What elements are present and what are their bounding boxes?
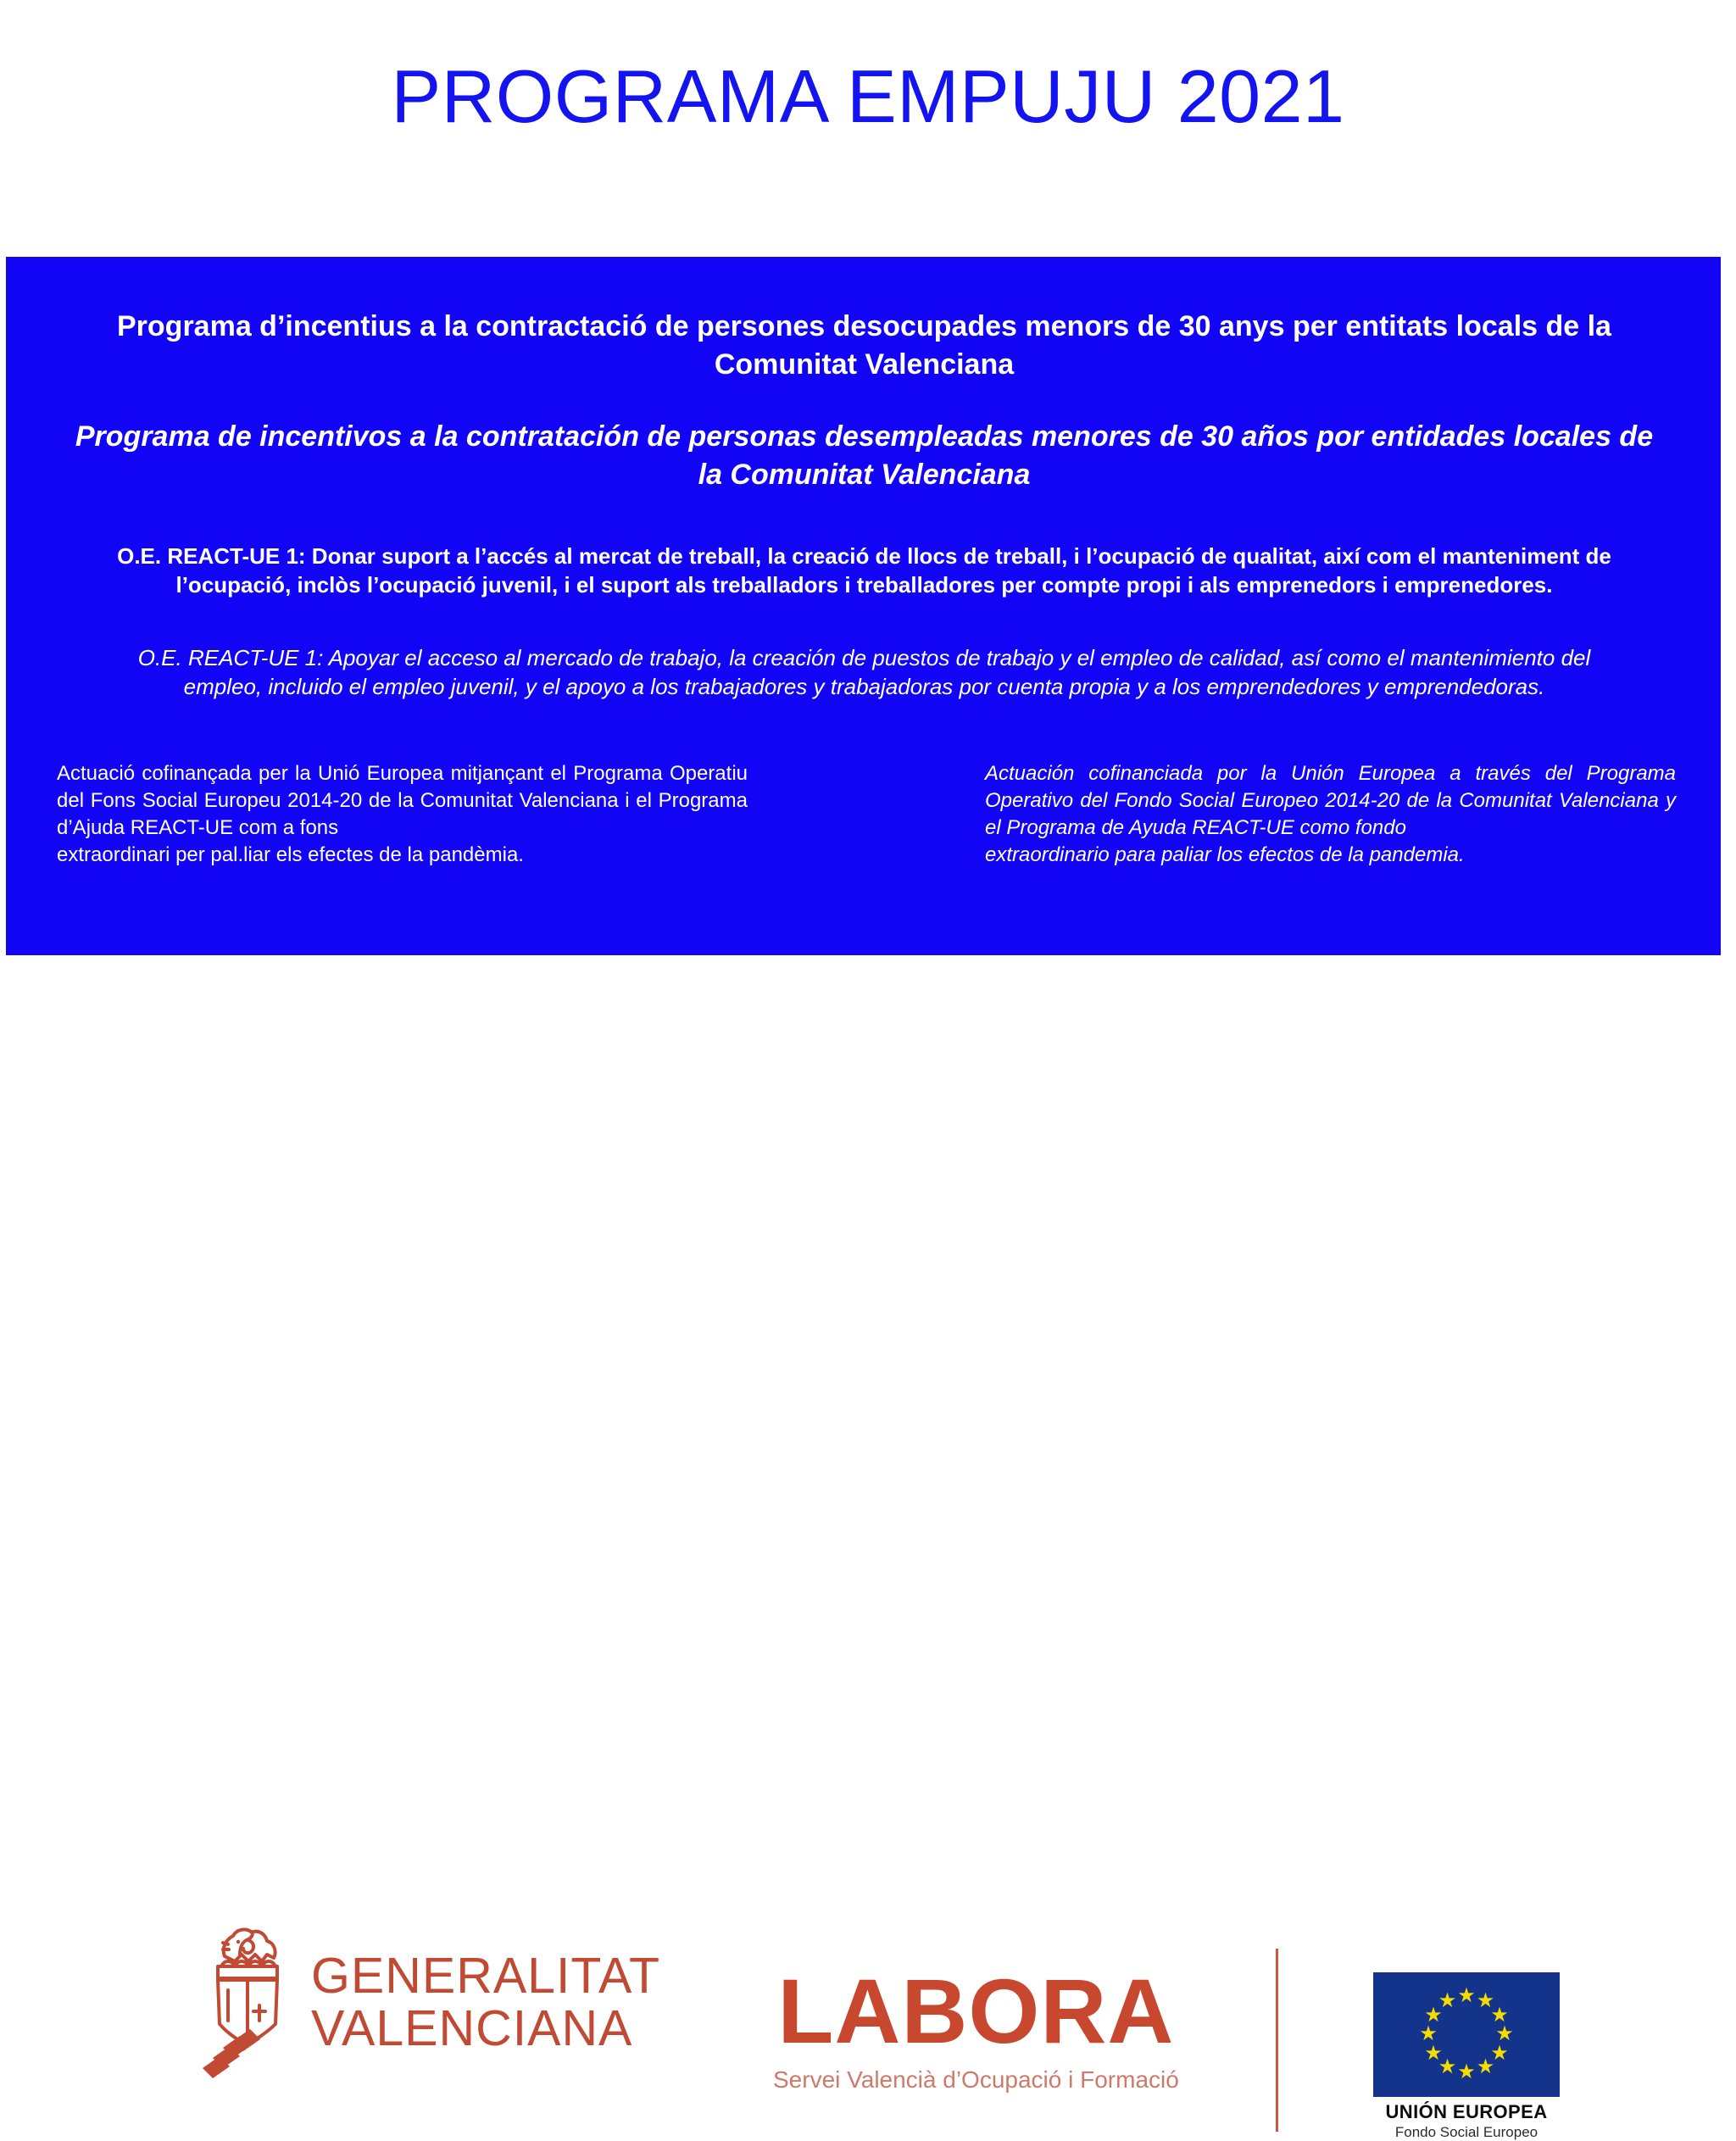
footnote-valencian-tail: extraordinari per pal.liar els efectes d… [57,842,748,869]
heading-valencian: Programa d’incentius a la contractació d… [57,308,1672,384]
objective-valencian: O.E. REACT-UE 1: Donar suport a l’accés … [116,542,1612,599]
eu-subtitle: Fondo Social Europeo [1373,2123,1560,2141]
footnote-spanish-tail: extraordinario para paliar los efectos d… [985,842,1676,869]
labora-logo: LABORA Servei Valencià d’Ocupació i Form… [773,1964,1179,2094]
footnote-valencian-body: Actuació cofinançada per la Unió Europea… [57,760,748,842]
eu-star-icon: ★ [1457,1987,1476,2005]
gva-line-2: VALENCIANA [311,2002,660,2055]
eu-star-icon: ★ [1490,2006,1509,2025]
european-union-logo: ★★★★★★★★★★★★ UNIÓN EUROPEA Fondo Social … [1373,1972,1560,2141]
generalitat-valenciana-wordmark: GENERALITAT VALENCIANA [311,1949,660,2055]
eu-star-icon: ★ [1438,1992,1457,2010]
eu-star-icon: ★ [1424,2044,1443,2063]
eu-star-icon: ★ [1477,2058,1495,2077]
eu-title: UNIÓN EUROPEA [1373,2101,1560,2123]
eu-star-icon: ★ [1457,2063,1476,2082]
generalitat-valenciana-logo: GENERALITAT VALENCIANA [199,1917,660,2087]
gva-line-1: GENERALITAT [311,1949,660,2002]
heading-spanish: Programa de incentivos a la contratación… [74,418,1655,494]
footnote-valencian: Actuació cofinançada per la Unió Europea… [57,760,748,869]
logo-bar: GENERALITAT VALENCIANA LABORA Servei Val… [0,955,1736,1227]
footnotes: Actuació cofinançada per la Unió Europea… [57,760,1676,869]
footnote-spanish-body: Actuación cofinanciada por la Unión Euro… [985,760,1676,842]
eu-flag-icon: ★★★★★★★★★★★★ [1373,1972,1560,2097]
eu-star-icon: ★ [1419,2025,1438,2044]
page-title: PROGRAMA EMPUJU 2021 [0,53,1736,141]
footnote-spanish: Actuación cofinanciada por la Unión Euro… [985,760,1676,869]
eu-star-icon: ★ [1495,2025,1514,2044]
blue-content-panel: Programa d’incentius a la contractació d… [6,257,1721,955]
labora-wordmark: LABORA [773,1964,1179,2059]
objective-spanish: O.E. REACT-UE 1: Apoyar el acceso al mer… [133,643,1595,701]
logo-divider [1276,1949,1278,2132]
generalitat-crown-bat-shield-icon [199,1917,292,2087]
labora-tagline: Servei Valencià d’Ocupació i Formació [773,2066,1179,2094]
